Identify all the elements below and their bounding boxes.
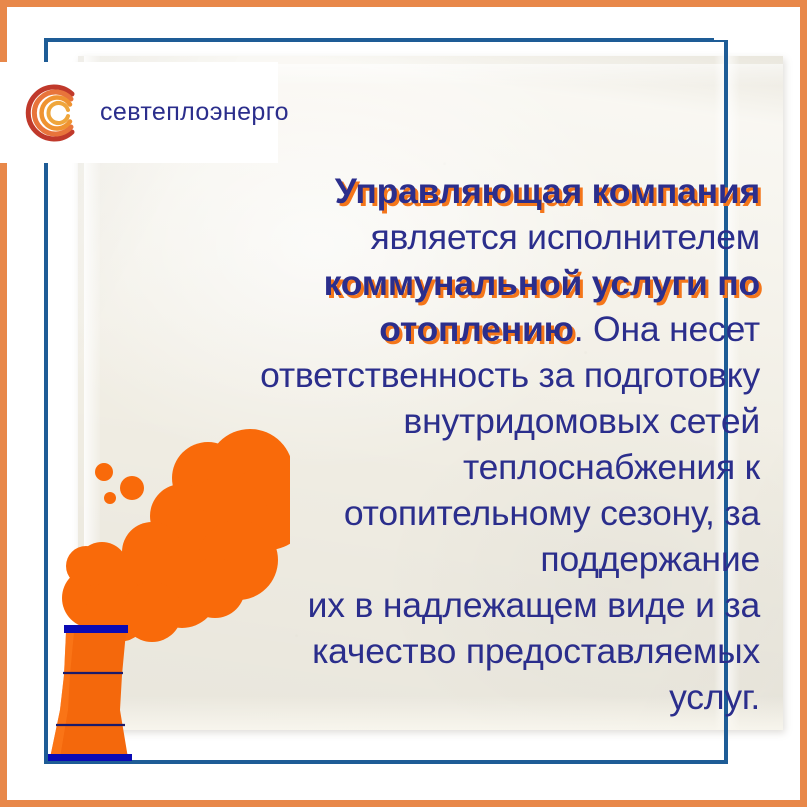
nested-c-arcs-icon — [16, 77, 88, 149]
cooling-tower-illustration — [40, 420, 290, 780]
message-line-4-highlight: отоплению — [379, 309, 573, 349]
brand-logo-block: севтеплоэнерго — [0, 62, 278, 163]
message-line-4-tail: . Она несет — [574, 309, 760, 349]
message-line-7: теплоснабжения к — [463, 447, 760, 487]
message-line-12: услуг. — [669, 677, 760, 717]
cooling-tower-body — [48, 625, 132, 763]
message-line-9: поддержание — [540, 539, 760, 579]
message-line-5: ответственность за подготовку — [260, 355, 760, 395]
smoke-plume — [62, 429, 290, 642]
frame-gap-top-edge — [714, 26, 794, 40]
message-line-11: качество предоставляемых — [312, 631, 760, 671]
message-line-2: является исполнителем — [371, 217, 760, 257]
message-line-3-highlight: коммунальной услуги по — [324, 263, 760, 303]
message-line-1-highlight: Управляющая компания — [335, 171, 760, 211]
message-line-6: внутридомовых сетей — [403, 401, 760, 441]
message-line-10: их в надлежащем виде и за — [308, 585, 760, 625]
brand-wordmark: севтеплоэнерго — [100, 98, 289, 127]
message-line-8: отопительному сезону, за — [344, 493, 760, 533]
smoke-dots — [95, 463, 144, 504]
poster-canvas: севтеплоэнерго Управляющая компания явля… — [0, 0, 807, 807]
